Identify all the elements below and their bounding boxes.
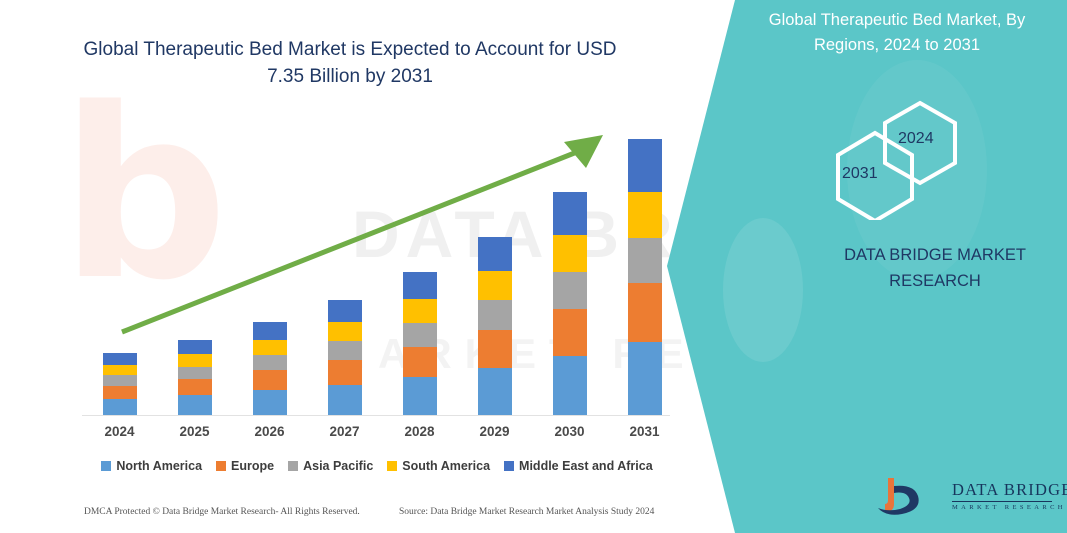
bar-segment: [178, 379, 212, 395]
hexagon-group: 2031 2024: [820, 95, 1000, 220]
legend-label: Asia Pacific: [303, 459, 373, 473]
legend-label: Middle East and Africa: [519, 459, 653, 473]
x-axis-label-2025: 2025: [159, 424, 231, 439]
bar-segment: [628, 238, 662, 284]
bar-segment: [178, 367, 212, 379]
stacked-bar-chart: [82, 110, 682, 415]
bar-segment: [253, 390, 287, 415]
data-bridge-logo-text: DATA BRIDGE MARKET RESEARCH: [952, 480, 1067, 511]
bar-segment: [178, 395, 212, 415]
bar-segment: [253, 370, 287, 390]
bar-segment: [553, 272, 587, 309]
bar-segment: [628, 139, 662, 192]
logo-divider: [952, 501, 1052, 502]
bar-segment: [253, 355, 287, 370]
bar-segment: [553, 192, 587, 235]
panel-brand-name: DATA BRIDGE MARKET RESEARCH: [790, 242, 1067, 294]
panel-brand-line2: RESEARCH: [790, 268, 1067, 294]
legend-item: South America: [387, 459, 490, 473]
x-axis-label-2026: 2026: [234, 424, 306, 439]
legend-item: Europe: [216, 459, 274, 473]
x-axis-label-2024: 2024: [84, 424, 156, 439]
legend-swatch: [288, 461, 298, 471]
bar-segment: [478, 300, 512, 329]
bar-column-2031: [628, 139, 662, 415]
bar-segment: [628, 283, 662, 342]
bar-segment: [178, 340, 212, 354]
legend-swatch: [101, 461, 111, 471]
bar-column-2028: [403, 272, 437, 415]
bar-segment: [403, 272, 437, 300]
legend-swatch: [216, 461, 226, 471]
bar-segment: [328, 385, 362, 415]
bar-segment: [403, 347, 437, 377]
hexagon-2031-label: 2031: [842, 165, 878, 183]
bar-segment: [103, 386, 137, 399]
x-axis-label-2028: 2028: [384, 424, 456, 439]
bar-segment: [328, 360, 362, 385]
bar-segment: [103, 353, 137, 364]
legend-label: South America: [402, 459, 490, 473]
bar-segment: [403, 323, 437, 347]
bar-segment: [328, 300, 362, 322]
x-axis-label-2027: 2027: [309, 424, 381, 439]
footer-source: Source: Data Bridge Market Research Mark…: [399, 507, 654, 517]
x-axis-label-2029: 2029: [459, 424, 531, 439]
panel-brand-line1: DATA BRIDGE MARKET: [790, 242, 1067, 268]
bar-segment: [628, 342, 662, 415]
bar-segment: [178, 354, 212, 366]
x-axis-label-2031: 2031: [609, 424, 681, 439]
bar-segment: [478, 271, 512, 300]
bar-segment: [628, 192, 662, 238]
chart-legend: North AmericaEuropeAsia PacificSouth Ame…: [82, 455, 672, 477]
bar-column-2027: [328, 300, 362, 415]
bar-segment: [478, 368, 512, 415]
page-title: Global Therapeutic Bed Market is Expecte…: [80, 36, 620, 90]
bar-column-2024: [103, 353, 137, 415]
logo-title: DATA BRIDGE: [952, 480, 1067, 500]
bar-column-2025: [178, 340, 212, 415]
bar-column-2026: [253, 322, 287, 415]
bar-segment: [103, 365, 137, 375]
legend-item: North America: [101, 459, 202, 473]
legend-swatch: [504, 461, 514, 471]
bar-segment: [478, 330, 512, 368]
x-axis-line: [82, 415, 670, 416]
bar-segment: [553, 309, 587, 356]
bar-column-2029: [478, 237, 512, 415]
bar-segment: [103, 375, 137, 385]
bar-segment: [253, 340, 287, 355]
hexagon-2024-label: 2024: [898, 130, 934, 148]
bar-segment: [553, 356, 587, 415]
bar-segment: [478, 237, 512, 271]
bar-segment: [403, 377, 437, 415]
bar-segment: [103, 399, 137, 415]
footer-copyright: DMCA Protected © Data Bridge Market Rese…: [84, 507, 360, 517]
legend-label: North America: [116, 459, 202, 473]
bar-column-2030: [553, 192, 587, 415]
legend-item: Asia Pacific: [288, 459, 373, 473]
legend-swatch: [387, 461, 397, 471]
legend-item: Middle East and Africa: [504, 459, 653, 473]
infographic-canvas: b DATA BRIDGE MARKET RESEARCH Global The…: [0, 0, 1067, 533]
bar-segment: [553, 235, 587, 272]
x-axis-labels: 20242025202620272028202920302031: [82, 424, 670, 446]
footer: DMCA Protected © Data Bridge Market Rese…: [0, 505, 700, 525]
logo-subtitle: MARKET RESEARCH: [952, 504, 1067, 511]
bar-segment: [403, 299, 437, 323]
legend-label: Europe: [231, 459, 274, 473]
bar-segment: [253, 322, 287, 340]
panel-heading: Global Therapeutic Bed Market, By Region…: [737, 8, 1057, 58]
bar-segment: [328, 322, 362, 341]
data-bridge-logo-icon: [868, 474, 942, 522]
bar-segment: [328, 341, 362, 360]
x-axis-label-2030: 2030: [534, 424, 606, 439]
